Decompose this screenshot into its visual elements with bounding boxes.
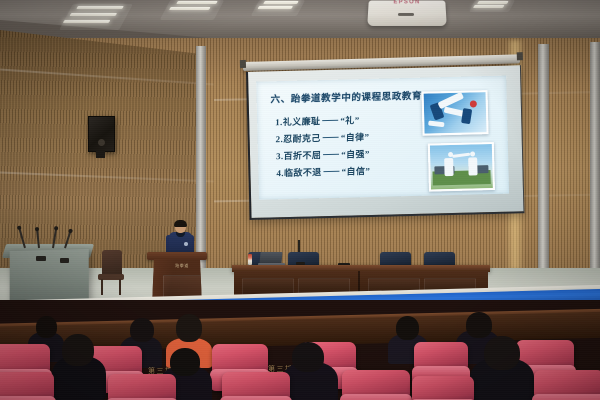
slide-list-item: 2.忍耐克己“自律” [275, 130, 369, 145]
seat [222, 372, 290, 400]
audience-head [62, 334, 94, 366]
ceiling-light-2 [160, 0, 225, 20]
slide-list-item: 4.临敌不退“自信” [276, 164, 370, 179]
seat [342, 370, 410, 400]
slide-item-phrase: 忍耐克己 [283, 133, 321, 144]
slide-item-phrase: 礼义廉耻 [283, 116, 321, 127]
audience-head [170, 348, 200, 376]
seat [108, 374, 176, 400]
projector-lens [398, 13, 414, 16]
slide-item-dash [323, 154, 339, 155]
lecture-hall-photo: EPSON 六、跆拳道教学中的课程思政教育 1.礼义廉耻“礼” 2.忍耐克己“自… [0, 0, 600, 400]
slide-list-item: 1.礼义廉耻“礼” [275, 113, 369, 128]
slide-list-item: 3.百折不屈“自强” [276, 147, 370, 162]
slide-item-phrase: 百折不屈 [283, 150, 321, 161]
audience-head [292, 342, 324, 372]
slide-photo-kick [422, 90, 489, 136]
audience-head [484, 336, 520, 370]
wall-pillar-far-right [590, 42, 600, 270]
audience-head [130, 318, 154, 342]
seat [534, 370, 600, 400]
presenter-hair [174, 220, 187, 227]
wall-pillar-right [538, 44, 549, 268]
stage-side-chair [98, 250, 124, 294]
ceiling-light-3 [251, 0, 306, 16]
slide-item-value: “自律” [341, 132, 370, 143]
podium-front-text: 跆拳道 [162, 263, 202, 269]
speaker-cone-icon [98, 139, 105, 146]
wall-pillar-left [196, 46, 206, 278]
audience-head [466, 312, 492, 338]
slide-title: 六、跆拳道教学中的课程思政教育 [270, 88, 422, 106]
projection-screen: 六、跆拳道教学中的课程思政教育 1.礼义廉耻“礼” 2.忍耐克己“自律” 3.百… [246, 65, 525, 220]
slide-item-dash [324, 171, 340, 172]
audience-head [396, 316, 419, 340]
chair-back [102, 250, 122, 276]
audience-area: 第三排 第三排 [0, 300, 600, 400]
speaker-bracket [96, 150, 105, 158]
console-control-box [36, 256, 46, 261]
seat [412, 376, 474, 400]
ceiling-light-4 [469, 0, 515, 12]
presentation-slide: 六、跆拳道教学中的课程思政教育 1.礼义廉耻“礼” 2.忍耐克己“自律” 3.百… [256, 76, 509, 200]
audience-head [176, 314, 202, 342]
wall-speaker [88, 116, 115, 152]
slide-item-value: “礼” [340, 115, 359, 125]
water-bottle [248, 254, 252, 265]
console-control-box [60, 258, 69, 263]
slide-item-phrase: 临敌不退 [284, 167, 322, 178]
slide-bullet-list: 1.礼义廉耻“礼” 2.忍耐克己“自律” 3.百折不屈“自强” 4.临敌不退“自… [275, 113, 370, 179]
slide-item-value: “自信” [341, 166, 370, 177]
audience-head [36, 316, 57, 338]
podium-top-surface [147, 252, 207, 260]
ceiling-projector: EPSON [367, 1, 447, 26]
seat [0, 372, 54, 400]
projector-brand-label: EPSON [368, 0, 445, 5]
slide-photo-pair [428, 142, 495, 192]
slide-item-dash [322, 120, 338, 121]
presenter-shirt-logo [184, 242, 188, 246]
slide-item-value: “自强” [341, 149, 370, 160]
slide-item-dash [323, 137, 339, 138]
